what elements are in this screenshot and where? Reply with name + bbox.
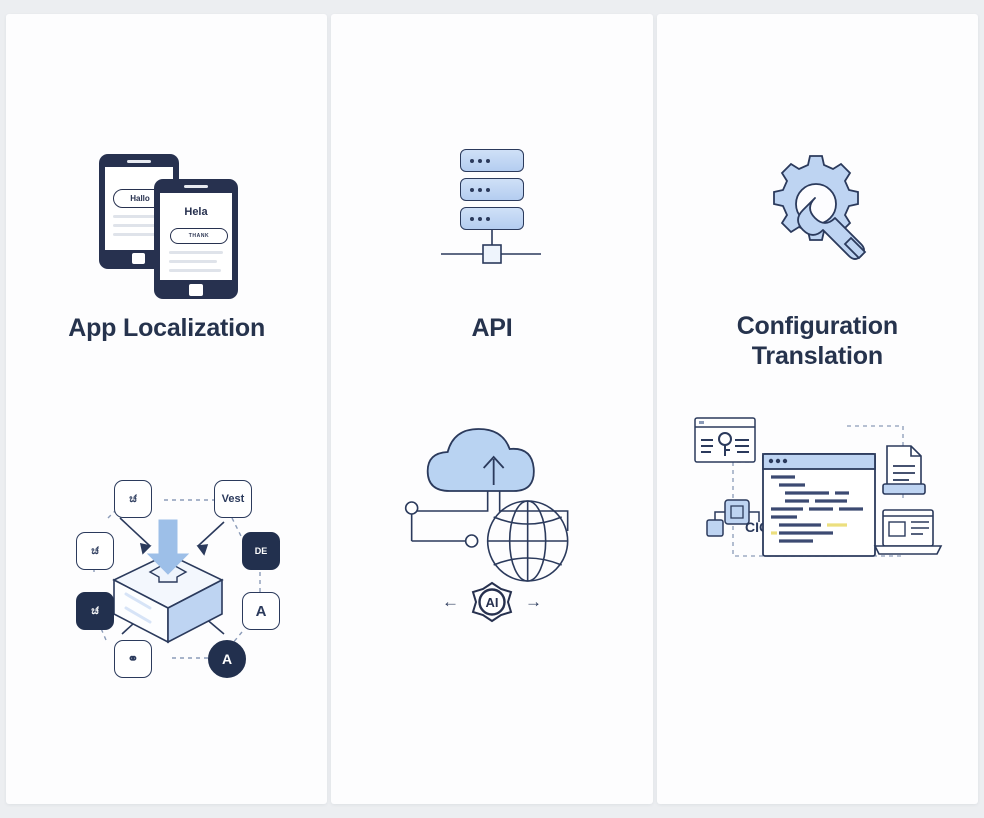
- text-line: [169, 260, 217, 263]
- panel-title-line-1: Configuration: [657, 312, 978, 342]
- cloud-globe-diagram: [331, 419, 652, 579]
- arrow-left-icon: ←: [442, 593, 459, 610]
- cloud-icon: [428, 429, 534, 491]
- rack-unit: [460, 207, 524, 230]
- phone-front-screen: Hela THANK: [160, 193, 232, 280]
- gear-wrench-icon: [755, 152, 879, 270]
- panel-title-configuration-translation: Configuration Translation: [657, 312, 978, 371]
- phone-front-action-button[interactable]: THANK: [170, 228, 228, 244]
- logo-text: DE: [255, 546, 268, 556]
- rack-dot: [470, 188, 474, 192]
- globe-icon: [488, 501, 568, 581]
- cicd-diagram: CICD: [687, 412, 952, 572]
- text-line: [169, 269, 221, 272]
- triangle-a-logo-icon: A: [242, 592, 280, 630]
- key-window-icon: [695, 418, 755, 462]
- phone-front: Hela THANK: [154, 179, 238, 299]
- phone-home-button: [189, 284, 203, 296]
- swirl-logo-active-icon[interactable]: ಚ́: [76, 592, 114, 630]
- rack-dot: [486, 188, 490, 192]
- ai-badge-row: ← AI →: [331, 579, 652, 624]
- framework-ecosystem-illustration: ಚ́ Vest ಚ́ DE ಚ́ A ⚭ A: [46, 462, 296, 682]
- text-line: [113, 224, 159, 227]
- phone-home-button: [132, 253, 145, 264]
- phone-speaker: [184, 185, 208, 188]
- rack-dot: [478, 188, 482, 192]
- logo-text: ಚ́: [91, 605, 99, 618]
- server-rack-icon: [331, 149, 652, 264]
- logo-text: A: [222, 651, 232, 667]
- panel-app-localization: Hallo Hela THANK App Localiza: [6, 14, 327, 804]
- laptop-icon: [875, 510, 941, 554]
- phone-speaker: [127, 160, 151, 163]
- link-logo-icon: ⚭: [114, 640, 152, 678]
- rack-dot: [478, 159, 482, 163]
- rack-dot: [470, 217, 474, 221]
- network-node: [406, 502, 418, 514]
- rack-unit: [460, 149, 524, 172]
- swirl-logo-left-icon: ಚ́: [76, 532, 114, 570]
- ecosystem-connectors: [46, 462, 296, 682]
- panel-configuration-translation: Configuration Translation: [657, 14, 978, 804]
- rack-dot: [478, 217, 482, 221]
- code-editor-window: [763, 454, 875, 556]
- feature-panels-board: Hallo Hela THANK App Localiza: [0, 0, 984, 818]
- de-hex-logo-icon: DE: [242, 532, 280, 570]
- panel-api: API: [331, 14, 652, 804]
- vest-logo: Vest: [214, 480, 252, 518]
- panel-title-line-2: Translation: [657, 342, 978, 372]
- logo-text: ಚ́: [129, 493, 137, 506]
- rack-dot: [470, 159, 474, 163]
- ai-badge-label: AI: [485, 595, 498, 610]
- logo-text: ⚭: [128, 651, 139, 667]
- swirl-logo-top-icon: ಚ́: [114, 480, 152, 518]
- network-node: [466, 535, 478, 547]
- panel-title-api: API: [331, 314, 652, 344]
- phone-front-heading: Hela: [160, 206, 232, 218]
- document-icon: [883, 446, 925, 494]
- rack-network-line: [437, 229, 547, 264]
- ai-badge-icon: AI: [470, 580, 514, 624]
- logo-text: ಚ́: [91, 545, 99, 558]
- phones-illustration: Hallo Hela THANK: [99, 154, 244, 294]
- cloud-network-illustration: [331, 419, 652, 579]
- rack-dot: [486, 159, 490, 163]
- rack-unit: [460, 178, 524, 201]
- logo-text: Vest: [222, 493, 245, 505]
- rack-dot: [486, 217, 490, 221]
- logo-text: A: [256, 603, 267, 620]
- cicd-pipeline-illustration: CICD: [687, 412, 952, 572]
- flame-circle-logo-icon: A: [208, 640, 246, 678]
- panel-title-app-localization: App Localization: [6, 314, 327, 344]
- arrow-right-icon: →: [525, 593, 542, 610]
- text-line: [169, 251, 223, 254]
